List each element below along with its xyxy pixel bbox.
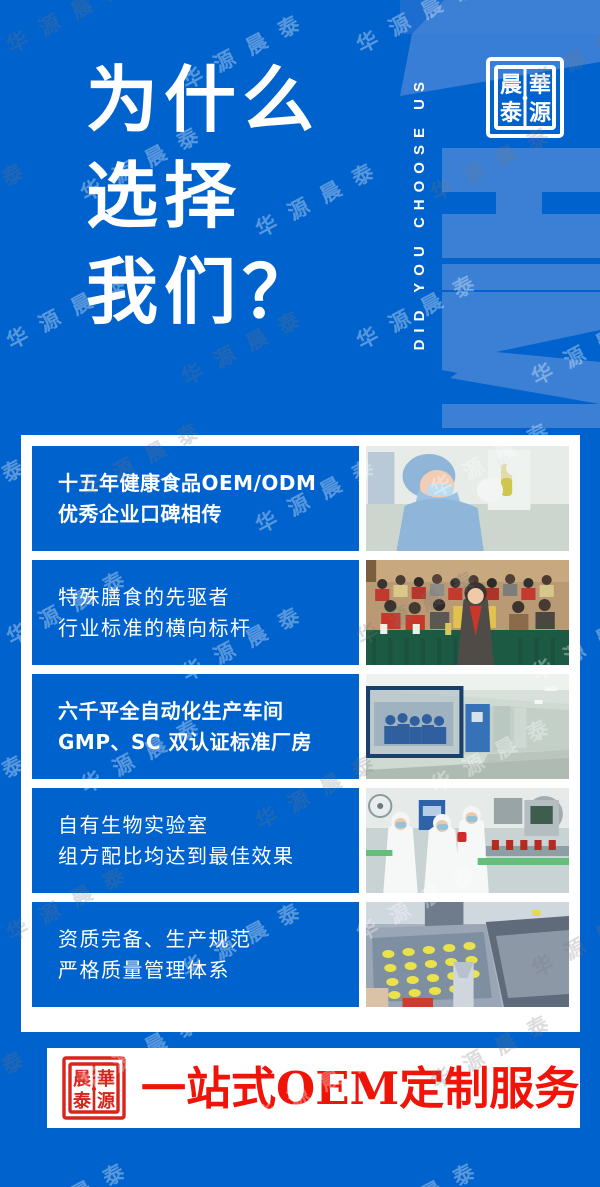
cleanroom-corridor-photo xyxy=(366,674,569,779)
feature-row: 特殊膳食的先驱者 行业标准的横向标杆 xyxy=(32,560,569,665)
headline-line-2: 选择 xyxy=(86,148,386,244)
feature-card[interactable]: 六千平全自动化生产车间 GMP、SC 双认证标准厂房 xyxy=(32,674,359,779)
brand-watermark: 华 源 晨 泰 xyxy=(0,1042,32,1131)
brand-watermark: 华 源 晨 泰 xyxy=(1,1154,133,1187)
svg-text:華: 華 xyxy=(529,72,551,98)
company-seal-icon-white: 晨 泰 華 源 xyxy=(484,55,566,140)
brand-watermark: 华 源 晨 泰 xyxy=(0,154,32,243)
feature-card[interactable]: 资质完备、生产规范 严格质量管理体系 xyxy=(32,902,359,1007)
conference-audience-photo xyxy=(366,560,569,665)
feature-row: 六千平全自动化生产车间 GMP、SC 双认证标准厂房 xyxy=(32,674,569,779)
lab-technician-photo xyxy=(366,446,569,551)
svg-text:晨: 晨 xyxy=(73,1069,92,1090)
feature-line-1: 自有生物实验室 xyxy=(58,810,359,841)
hero-headline: 为什么 选择 我们？ xyxy=(86,52,386,340)
feature-line-1: 特殊膳食的先驱者 xyxy=(58,582,359,613)
feature-row: 自有生物实验室 组方配比均达到最佳效果 xyxy=(32,788,569,893)
footer-slogan: 一站式OEM定制服务 xyxy=(141,1066,579,1111)
feature-line-1: 资质完备、生产规范 xyxy=(58,924,359,955)
vertical-caption: DID YOU CHOOSE US xyxy=(406,18,432,408)
feature-line-2: GMP、SC 双认证标准厂房 xyxy=(58,727,359,758)
brand-watermark: 华 源 晨 泰 xyxy=(351,1154,483,1187)
brand-watermark: 华 源 晨 泰 xyxy=(1,0,133,60)
headline-line-1: 为什么 xyxy=(86,52,386,148)
feature-line-2: 严格质量管理体系 xyxy=(58,955,359,986)
feature-card[interactable]: 特殊膳食的先驱者 行业标准的横向标杆 xyxy=(32,560,359,665)
svg-text:華: 華 xyxy=(97,1068,115,1090)
tablet-packaging-machine-photo xyxy=(366,902,569,1007)
feature-row: 十五年健康食品OEM/ODM 优秀企业口碑相传 xyxy=(32,446,569,551)
svg-text:晨: 晨 xyxy=(500,72,523,98)
feature-line-1: 十五年健康食品OEM/ODM xyxy=(58,468,359,499)
svg-text:泰: 泰 xyxy=(499,100,523,126)
headline-line-3: 我们？ xyxy=(86,244,386,340)
feature-line-2: 优秀企业口碑相传 xyxy=(58,499,359,530)
vertical-caption-text: DID YOU CHOOSE US xyxy=(411,75,428,350)
company-seal-icon-red: 晨 泰 華 源 xyxy=(61,1055,127,1121)
feature-card[interactable]: 自有生物实验室 组方配比均达到最佳效果 xyxy=(32,788,359,893)
feature-line-2: 组方配比均达到最佳效果 xyxy=(58,841,359,872)
feature-card[interactable]: 十五年健康食品OEM/ODM 优秀企业口碑相传 xyxy=(32,446,359,551)
feature-line-2: 行业标准的横向标杆 xyxy=(58,613,359,644)
features-panel: 十五年健康食品OEM/ODM 优秀企业口碑相传 xyxy=(21,435,580,1032)
production-line-inspection-photo xyxy=(366,788,569,893)
footer-banner: 晨 泰 華 源 一站式OEM定制服务 xyxy=(47,1048,580,1128)
feature-line-1: 六千平全自动化生产车间 xyxy=(58,696,359,727)
poster-root: 为什么 选择 我们？ DID YOU CHOOSE US 晨 泰 華 源 xyxy=(0,0,600,1187)
brand-watermark: 华 源 晨 泰 xyxy=(526,302,600,391)
svg-text:源: 源 xyxy=(97,1090,115,1112)
features-list: 十五年健康食品OEM/ODM 优秀企业口碑相传 xyxy=(32,446,569,1007)
svg-text:泰: 泰 xyxy=(72,1090,92,1112)
svg-text:源: 源 xyxy=(529,100,551,126)
feature-row: 资质完备、生产规范 严格质量管理体系 xyxy=(32,902,569,1007)
